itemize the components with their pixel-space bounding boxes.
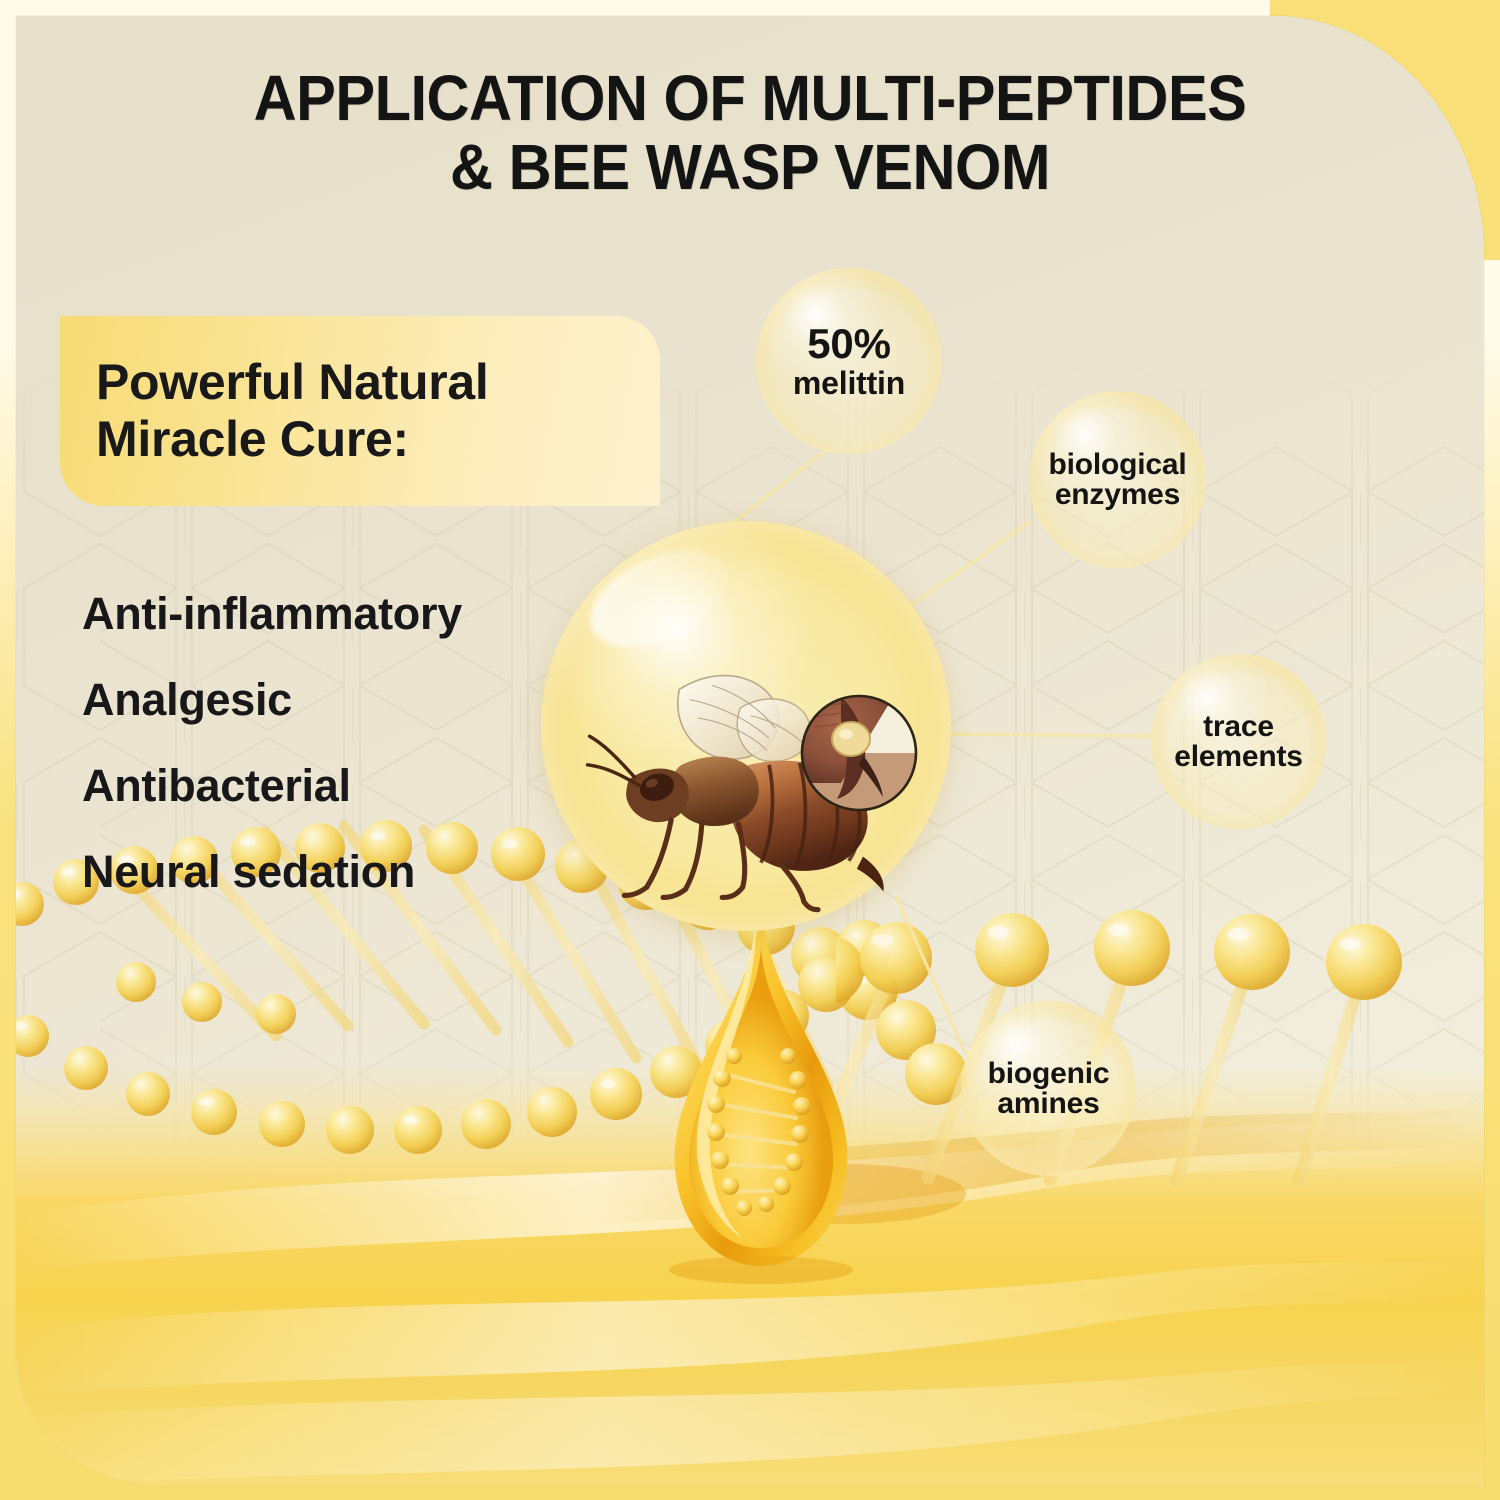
benefit-item: Neural sedation: [82, 849, 702, 894]
bubble-melittin-label: 50% melittin: [793, 323, 905, 399]
badge-line-1: Powerful Natural: [96, 354, 660, 411]
melittin-text: melittin: [793, 367, 905, 399]
trace-line1: trace: [1203, 710, 1274, 743]
badge-line-2: Miracle Cure:: [96, 411, 660, 468]
benefit-item: Anti-inflammatory: [82, 591, 702, 636]
benefit-item: Antibacterial: [82, 763, 702, 808]
enzymes-line2: enzymes: [1055, 478, 1180, 511]
infographic-canvas: 50% melittin biological enzymes trace el…: [0, 0, 1500, 1500]
title-line-1: APPLICATION OF MULTI-PEPTIDES: [254, 62, 1247, 134]
honey-droplet-dna-icon: [616, 896, 906, 1316]
bubble-melittin: 50% melittin: [756, 268, 942, 454]
melittin-percent: 50%: [793, 323, 905, 365]
headline-badge: Powerful Natural Miracle Cure:: [60, 316, 660, 506]
title-line-2: & BEE WASP VENOM: [67, 133, 1432, 202]
bubble-trace-elements: trace elements: [1151, 654, 1326, 829]
amines-line1: biogenic: [988, 1057, 1110, 1090]
bubble-enzymes-label: biological enzymes: [1048, 450, 1186, 510]
bubble-biological-enzymes: biological enzymes: [1029, 391, 1206, 568]
bubble-trace-label: trace elements: [1174, 712, 1302, 772]
benefit-item: Analgesic: [82, 677, 702, 722]
benefits-list: Anti-inflammatory Analgesic Antibacteria…: [82, 591, 702, 894]
page-title: APPLICATION OF MULTI-PEPTIDES & BEE WASP…: [67, 64, 1432, 202]
bubble-amines-label: biogenic amines: [988, 1059, 1110, 1119]
dna-helix-right-icon: [836, 896, 1436, 1186]
amines-line2: amines: [997, 1087, 1099, 1120]
trace-line2: elements: [1174, 740, 1302, 773]
bubble-biogenic-amines: biogenic amines: [961, 1001, 1136, 1176]
content-panel: 50% melittin biological enzymes trace el…: [16, 16, 1484, 1486]
enzymes-line1: biological: [1048, 448, 1186, 481]
